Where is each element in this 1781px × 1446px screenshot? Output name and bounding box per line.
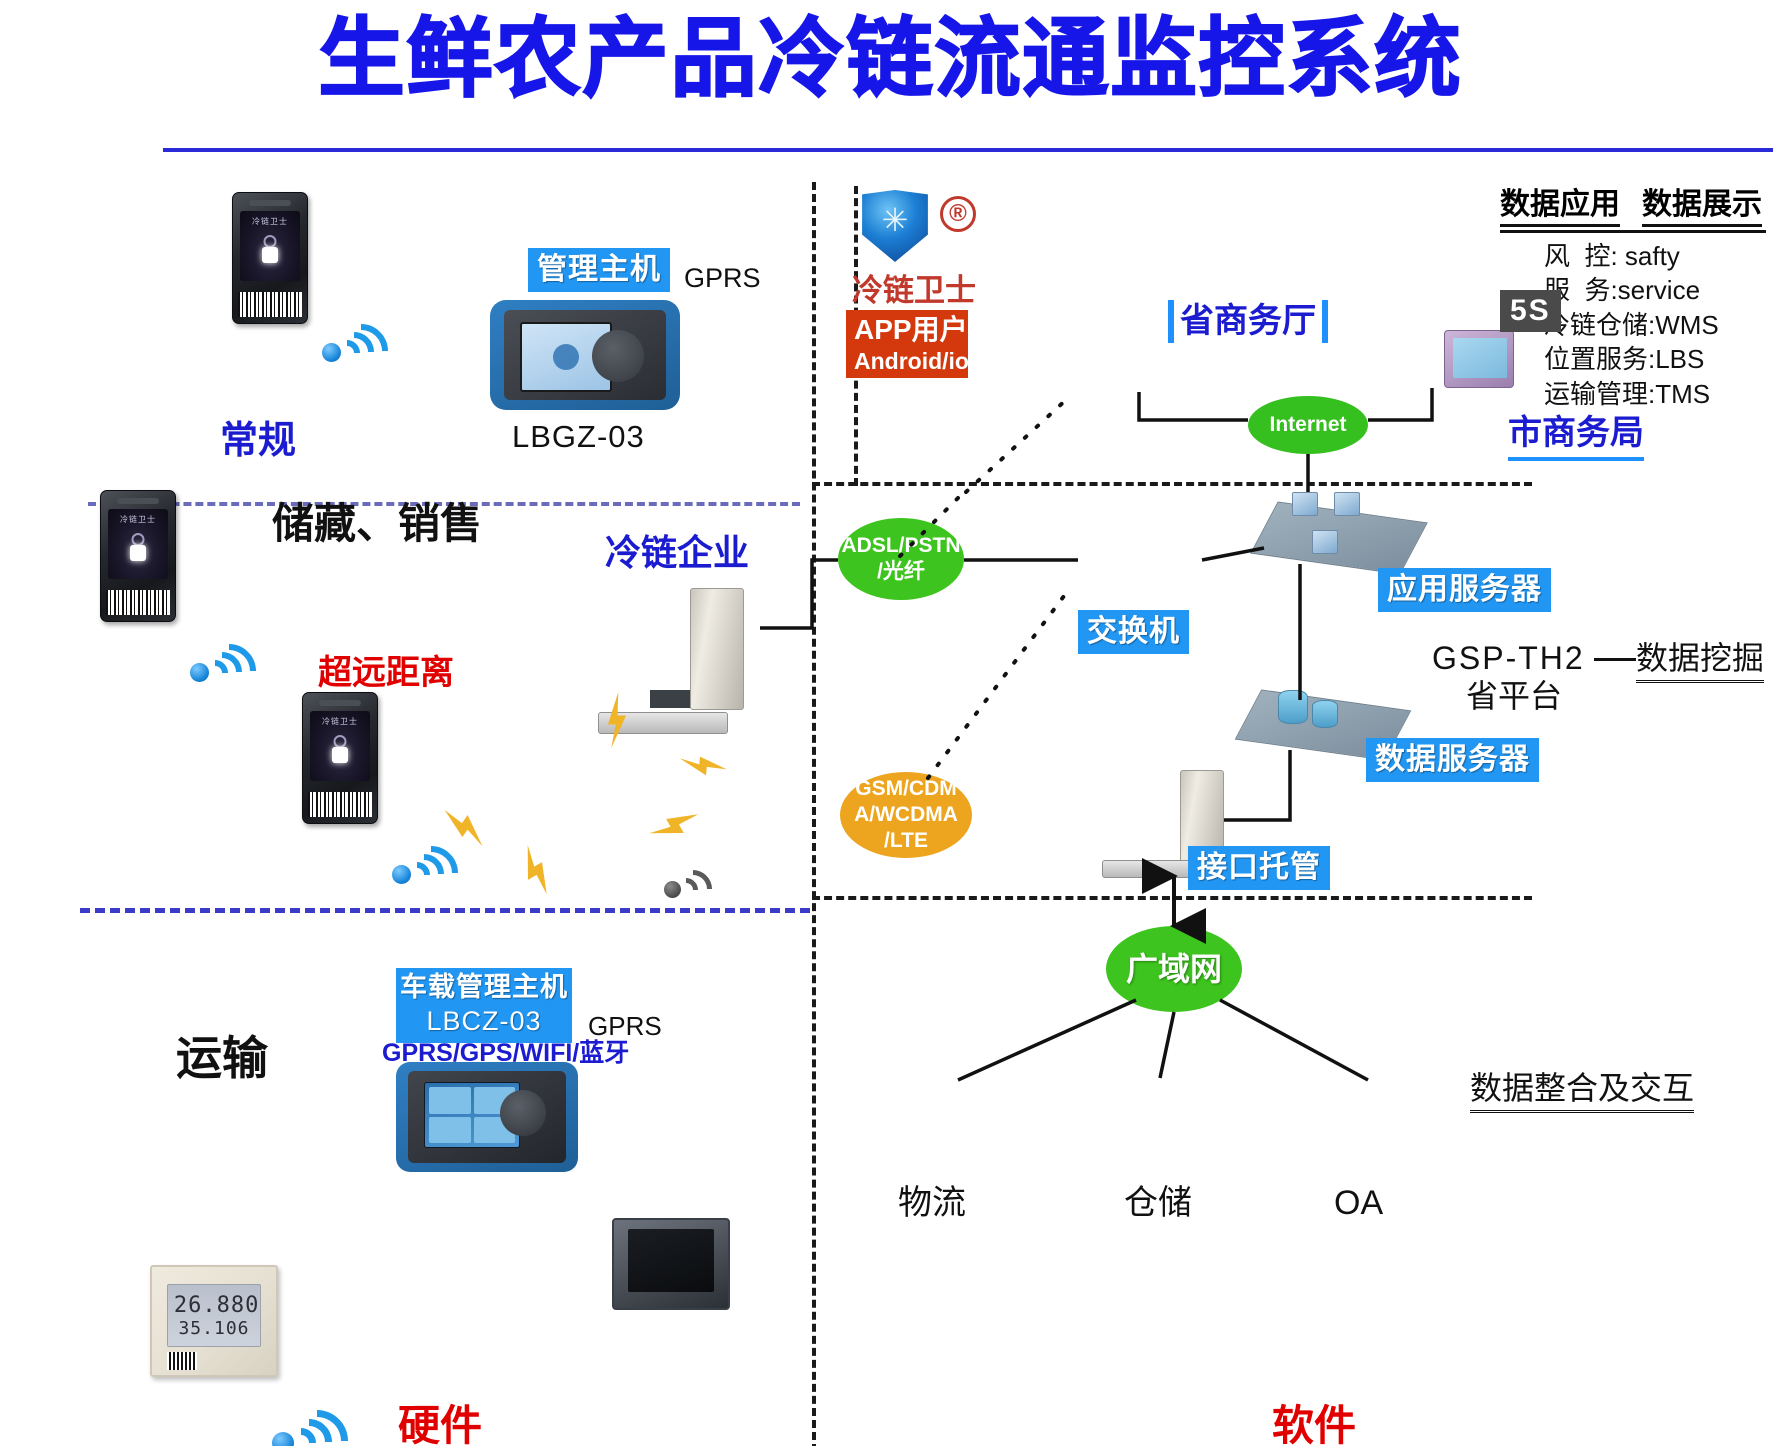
wifi-signal-1 <box>322 310 388 368</box>
line-wan-to-oa <box>1220 1000 1368 1080</box>
device-brand-label: 冷链卫士 <box>322 716 358 727</box>
wifi-signal-gprs-host <box>664 852 722 902</box>
barcode-icon <box>238 292 302 317</box>
device-notch <box>117 498 158 505</box>
label-hardware-section: 硬件 <box>398 1400 482 1446</box>
label-data-display: 数据展示 <box>1642 186 1762 227</box>
data-panel-item: 位置服务:LBS <box>1544 342 1770 377</box>
tag-device-2: 冷链卫士 <box>100 490 176 622</box>
barcode-icon <box>308 792 372 817</box>
diagram-canvas: 生鲜农产品冷链流通监控系统 冷链卫士 冷链卫士 <box>0 0 1781 1446</box>
database-cylinder-icon <box>1278 690 1308 724</box>
wifi-signal-2 <box>190 630 256 688</box>
label-app-platforms: Android/ios <box>854 347 960 376</box>
wifi-signal-sensor-1 <box>272 1398 346 1446</box>
sensor-qr-icon <box>167 1352 197 1370</box>
vehicle-host-label-box: 车载管理主机 LBCZ-03 <box>396 968 572 1043</box>
app-server-node-c <box>1312 530 1338 554</box>
label-terminal-oa: OA <box>1334 1182 1383 1225</box>
label-gprs-host: GPRS <box>684 262 761 296</box>
barcode-icon <box>106 590 170 615</box>
label-app-brand: 冷链卫士 <box>852 272 976 311</box>
device-brand-label: 冷链卫士 <box>120 514 156 525</box>
internet-node: Internet <box>1248 396 1368 454</box>
host-logo-icon <box>553 344 579 370</box>
label-data-application: 数据应用 <box>1500 186 1620 227</box>
label-platform-sub: 省平台 <box>1466 676 1562 716</box>
enterprise-monitor <box>612 1218 730 1310</box>
adsl-node: ADSL/PSTN /光纤 <box>838 518 964 600</box>
badge-5s: 5S <box>1500 290 1561 332</box>
screen-tile <box>429 1117 471 1144</box>
monitor-screen <box>1453 338 1507 378</box>
line-wan-to-logistics <box>958 1000 1136 1080</box>
registered-trademark-icon: ® <box>940 196 976 232</box>
label-host-model: LBGZ-03 <box>512 418 645 457</box>
data-panel-item: 冷链仓储:WMS <box>1544 308 1770 343</box>
label-data-server: 数据服务器 <box>1366 738 1539 782</box>
line-dataserver-to-interface <box>1224 750 1290 820</box>
label-interface-hosting: 接口托管 <box>1188 846 1330 890</box>
label-storage-sales: 储藏、销售 <box>272 498 482 551</box>
screen-tile <box>429 1087 471 1114</box>
wan-node: 广域网 <box>1106 926 1242 1012</box>
label-city-commerce: 市商务局 <box>1508 412 1644 461</box>
tag-device-1: 冷链卫士 <box>232 192 308 324</box>
label-terminal-warehouse: 仓储 <box>1124 1182 1192 1225</box>
page-title: 生鲜农产品冷链流通监控系统 <box>0 14 1781 104</box>
app-server-node-b <box>1334 492 1360 516</box>
wifi-signal-3 <box>392 832 458 890</box>
divider-vertical-main <box>812 182 816 1446</box>
label-adsl: ADSL/PSTN /光纤 <box>841 533 960 586</box>
database-cylinder-icon <box>1312 700 1338 728</box>
device-circle-icon <box>132 533 145 546</box>
sensor-temp-value: 26.880 <box>174 1293 254 1318</box>
divider-mid-right <box>812 896 1532 900</box>
tag-device-3: 冷链卫士 <box>302 692 378 824</box>
gsm-node: GSM/CDM A/WCDMA /LTE <box>840 772 972 858</box>
line-enterprise-to-adsl <box>760 560 838 628</box>
data-panel-header: 数据应用 数据展示 <box>1500 186 1770 227</box>
device-notch <box>319 700 360 707</box>
device-indicator-icon <box>332 747 348 763</box>
data-panel-item: 风 控: safty <box>1544 239 1770 274</box>
lightning-icon <box>509 841 561 901</box>
wifi-arc-icon <box>273 1397 361 1446</box>
sensor-lcd-1: 26.880 35.106 <box>167 1284 261 1347</box>
app-user-badge: APP用户 Android/ios <box>846 310 968 378</box>
sensor-humidity-value: 35.106 <box>174 1318 254 1339</box>
wifi-arc-icon <box>393 835 469 911</box>
divider-top-right <box>812 482 1532 486</box>
label-app-user: APP用户 <box>854 312 960 347</box>
divider-left-lower <box>80 908 810 913</box>
vehicle-host-device <box>396 1062 578 1172</box>
label-vehicle-host-model: LBCZ-03 <box>396 1005 572 1043</box>
device-indicator-icon <box>130 545 146 561</box>
device-notch <box>249 200 290 207</box>
line-gsm-to-switch-dotted <box>928 596 1064 778</box>
enterprise-monitor-stand <box>650 690 692 708</box>
lightning-icon <box>645 800 705 852</box>
label-gsm: GSM/CDM A/WCDMA /LTE <box>854 776 958 855</box>
device-brand-label: 冷链卫士 <box>252 216 288 227</box>
label-software-section: 软件 <box>1272 1400 1356 1446</box>
label-terminal-logistics: 物流 <box>898 1182 966 1225</box>
vehicle-host-dpad-icon <box>500 1090 546 1136</box>
label-data-integration: 数据整合及交互 <box>1470 1068 1694 1113</box>
temperature-sensor-1: 26.880 35.106 <box>150 1265 278 1377</box>
label-regular: 常规 <box>220 418 296 466</box>
device-indicator-icon <box>262 247 278 263</box>
label-app-server: 应用服务器 <box>1378 568 1551 612</box>
page-title-container: 生鲜农产品冷链流通监控系统 <box>0 14 1781 104</box>
line-internet-to-city <box>1368 388 1432 420</box>
wifi-arc-icon <box>323 313 399 389</box>
data-panel-rule <box>1500 230 1766 233</box>
enterprise-tower <box>690 588 744 710</box>
label-long-distance: 超远距离 <box>318 652 454 695</box>
app-logo-group <box>860 190 930 262</box>
line-phone-to-internet-dotted <box>966 398 1068 492</box>
management-host-device <box>490 300 680 410</box>
label-platform-name: GSP-TH2 <box>1432 638 1585 678</box>
label-vehicle-host-title: 车载管理主机 <box>396 968 572 1005</box>
lightning-icon <box>678 751 728 781</box>
title-underline <box>163 148 1773 152</box>
line-wan-to-warehouse <box>1160 1012 1174 1078</box>
label-gprs-vehicle: GPRS <box>588 1010 662 1043</box>
label-transport: 运输 <box>176 1030 268 1088</box>
wifi-arc-icon <box>191 633 267 709</box>
data-panel-item: 服 务:service <box>1544 273 1770 308</box>
label-province-commerce: 省商务厅 <box>1168 300 1328 343</box>
device-circle-icon <box>334 735 347 748</box>
label-management-host: 管理主机 <box>528 248 670 292</box>
data-panel-item: 运输管理:TMS <box>1544 377 1770 412</box>
line-laptop-to-internet <box>1139 392 1248 420</box>
app-server-node-a <box>1292 492 1318 516</box>
shield-icon <box>860 190 930 262</box>
platform-connector-line <box>1594 658 1636 661</box>
host-dpad-icon <box>592 330 644 382</box>
device-circle-icon <box>264 235 277 248</box>
label-cold-chain-enterprise: 冷链企业 <box>605 530 749 575</box>
label-data-mining: 数据挖掘 <box>1636 638 1764 683</box>
label-switch: 交换机 <box>1078 610 1189 654</box>
